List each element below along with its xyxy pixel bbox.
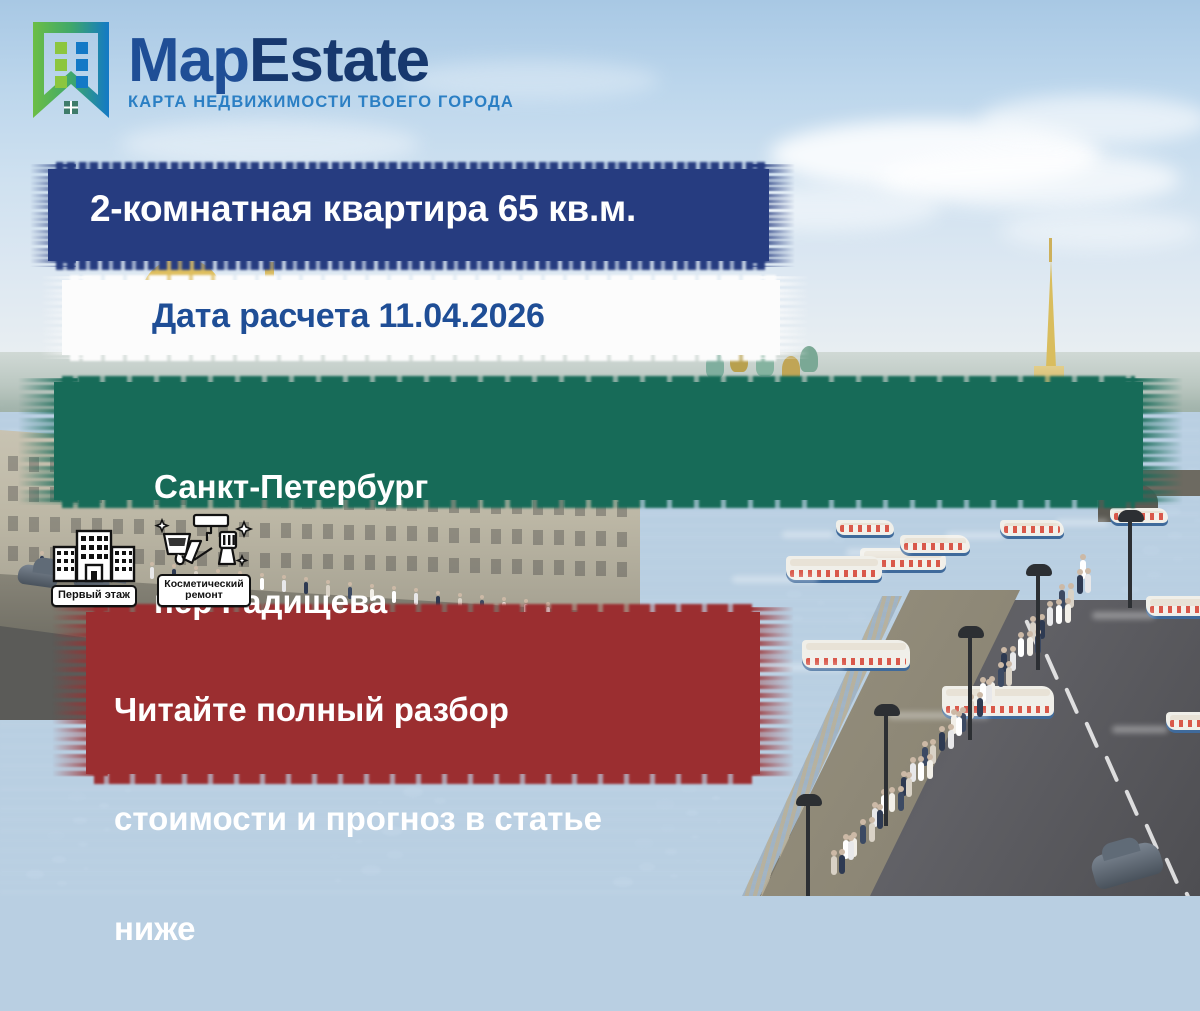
calculation-date-banner: Дата расчета 11.04.2026 [40, 275, 810, 361]
brand-tagline: КАРТА НЕДВИЖИМОСТИ ТВОЕГО ГОРОДА [128, 93, 514, 112]
cta-line-1: Читайте полный разбор [114, 683, 602, 738]
calculation-date-text: Дата расчета 11.04.2026 [152, 297, 545, 336]
brand-logo[interactable]: MapEstate КАРТА НЕДВИЖИМОСТИ ТВОЕГО ГОРО… [28, 18, 514, 122]
cta-line-3: ниже [114, 902, 602, 957]
cloud [980, 95, 1200, 145]
brand-name-part1: Map [128, 26, 249, 95]
badge-first-floor[interactable]: Первый этаж [46, 523, 142, 607]
brand-name-part2: Estate [249, 26, 429, 95]
paint-roller-brush-bucket-icon [152, 512, 256, 574]
cta-banner: Читайте полный разбор стоимости и прогно… [52, 604, 794, 784]
cloud [1000, 210, 1200, 250]
location-banner: Санкт-Петербург пер Радищева [18, 376, 1183, 508]
badge-cosmetic-renovation[interactable]: Косметический ремонт [152, 512, 256, 607]
building-icon [46, 523, 142, 585]
bookmark-building-logo-icon [28, 18, 114, 122]
location-city: Санкт-Петербург [154, 458, 428, 516]
feature-badges: Первый этаж [46, 512, 256, 607]
cloud [120, 120, 420, 168]
cta-line-2: стоимости и прогноз в статье [114, 792, 602, 847]
badge-label: Первый этаж [51, 585, 137, 607]
cta-text: Читайте полный разбор стоимости и прогно… [114, 628, 602, 1011]
brand-name: MapEstate [128, 32, 514, 91]
badge-label: Косметический ремонт [157, 574, 250, 607]
peter-paul-fortress-spire [1046, 258, 1056, 368]
property-title: 2-комнатная квартира 65 кв.м. [90, 188, 636, 230]
property-banner: 2-комнатная квартира 65 кв.м. [30, 162, 795, 270]
